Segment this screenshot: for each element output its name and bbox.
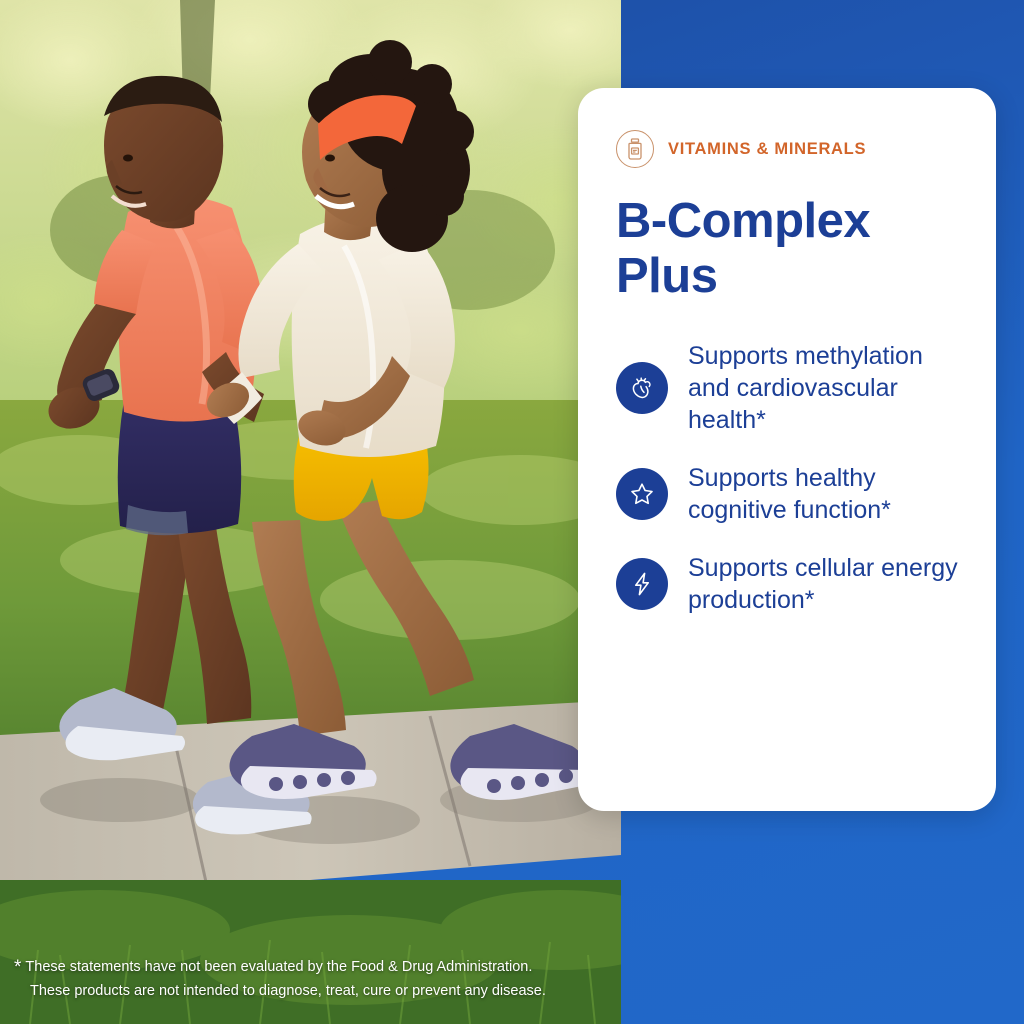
anatomical-heart-icon bbox=[616, 362, 668, 414]
product-info-card: VITAMINS & MINERALS B-Complex Plus Suppo… bbox=[578, 88, 996, 811]
supplement-bottle-icon bbox=[616, 130, 654, 168]
benefit-text: Supports cellular energy production* bbox=[688, 552, 966, 616]
fda-disclaimer: *These statements have not been evaluate… bbox=[14, 956, 614, 1004]
category-label: VITAMINS & MINERALS bbox=[668, 140, 866, 159]
list-item: Supports healthy cognitive function* bbox=[616, 462, 966, 526]
page-title: B-Complex Plus bbox=[616, 194, 966, 304]
disclaimer-line-2: These products are not intended to diagn… bbox=[30, 980, 614, 1004]
title-line-2: Plus bbox=[616, 249, 717, 303]
disclaimer-line-1: These statements have not been evaluated… bbox=[25, 959, 532, 975]
advertisement-canvas: *These statements have not been evaluate… bbox=[0, 0, 1024, 1024]
lifestyle-photo bbox=[0, 0, 621, 1024]
benefit-text: Supports healthy cognitive function* bbox=[688, 462, 966, 526]
benefit-text: Supports methylation and cardiovascular … bbox=[688, 340, 966, 436]
benefits-list: Supports methylation and cardiovascular … bbox=[616, 340, 966, 616]
category-badge: VITAMINS & MINERALS bbox=[616, 130, 966, 168]
list-item: Supports methylation and cardiovascular … bbox=[616, 340, 966, 436]
list-item: Supports cellular energy production* bbox=[616, 552, 966, 616]
star-icon bbox=[616, 468, 668, 520]
title-line-1: B-Complex bbox=[616, 194, 870, 248]
lightning-bolt-icon bbox=[616, 558, 668, 610]
